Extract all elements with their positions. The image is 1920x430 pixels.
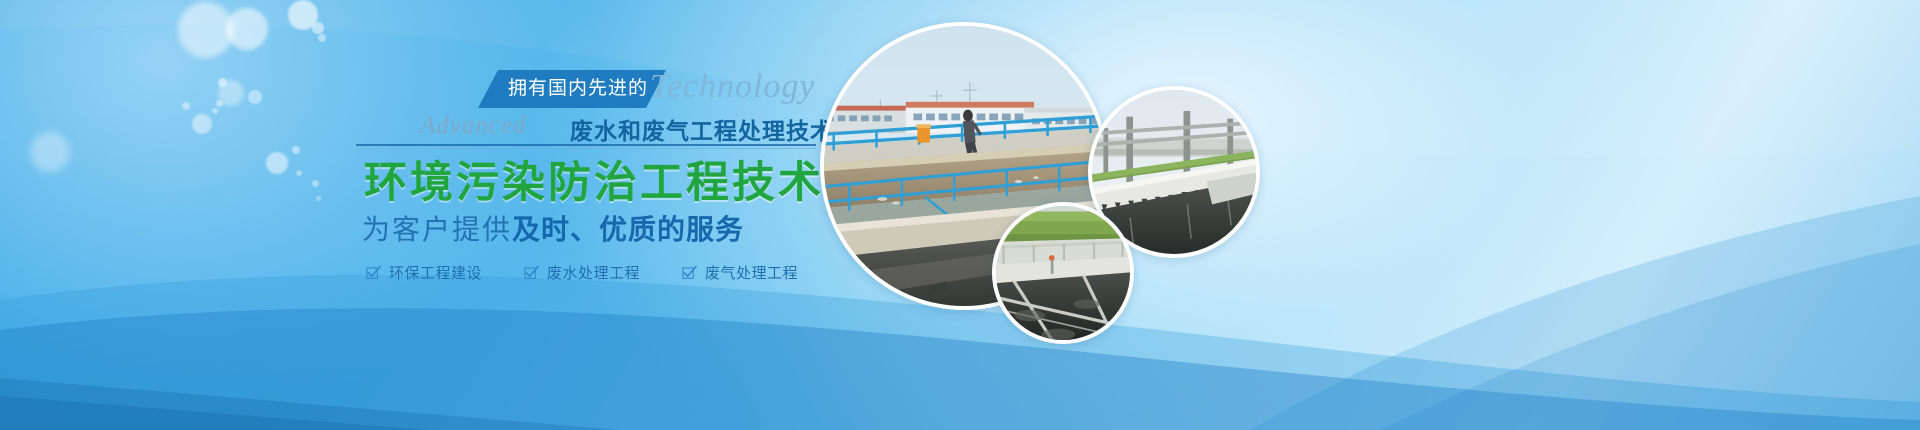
promo-banner: 拥有国内先进的 Technology Advanced 废水和废气工程处理技术 … <box>0 0 1920 430</box>
photo-cluster <box>0 0 1920 430</box>
clarifier-basin-artwork <box>996 206 1130 340</box>
clarifier-basin-photo <box>992 202 1134 344</box>
